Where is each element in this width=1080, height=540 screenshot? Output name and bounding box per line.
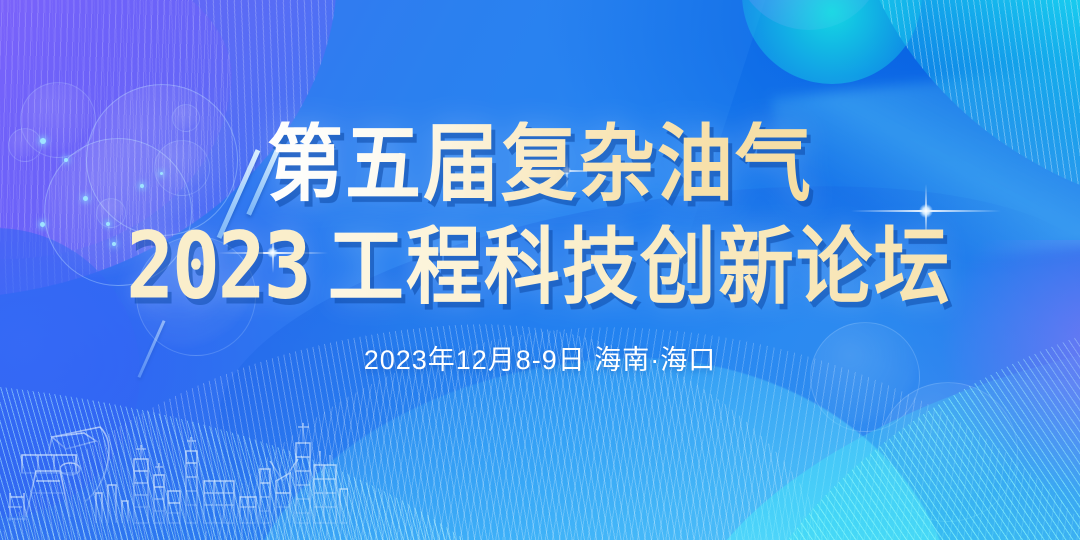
title-year: 2023 bbox=[126, 214, 309, 320]
conference-banner: 第五届复杂油气 2023 工程科技创新论坛 2023年12月8-9日 海南·海口 bbox=[0, 0, 1080, 540]
bubble-circle bbox=[878, 382, 1018, 522]
title-line-2-row: 2023 工程科技创新论坛 bbox=[0, 222, 1080, 312]
title-line-2: 工程科技创新论坛 bbox=[328, 224, 952, 309]
title-line-1: 第五届复杂油气 bbox=[267, 121, 813, 206]
violet-circle-top-right bbox=[734, 0, 884, 30]
event-date-location: 2023年12月8-9日 海南·海口 bbox=[0, 338, 1080, 377]
title-block: 第五届复杂油气 2023 工程科技创新论坛 bbox=[0, 126, 1080, 312]
cyan-circle-top-right bbox=[742, 0, 922, 84]
flowing-line-wave-band bbox=[669, 289, 1080, 540]
flowing-line-wave-band bbox=[0, 378, 575, 540]
oil-pumpjack-refinery-silhouette bbox=[8, 397, 348, 532]
flowing-line-wave-band bbox=[0, 299, 850, 540]
